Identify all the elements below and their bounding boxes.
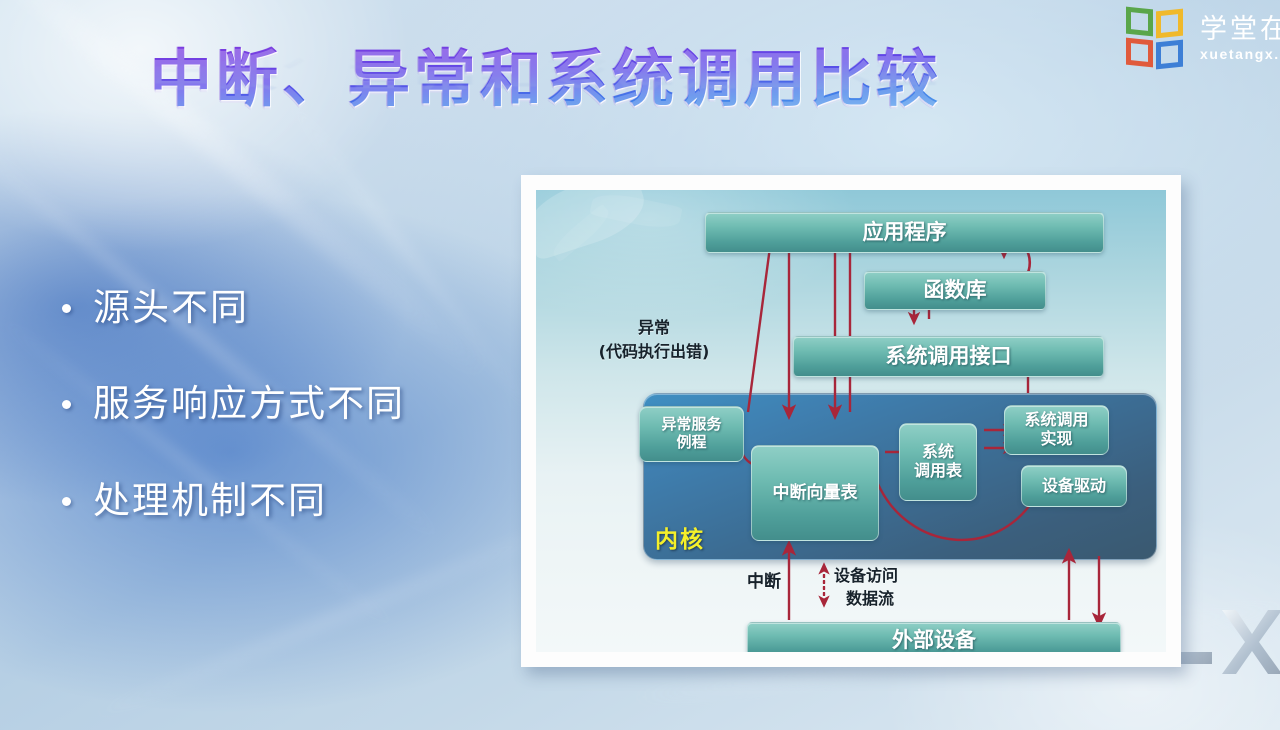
xuetangx-logo-icon — [1126, 8, 1188, 70]
diagram-box-function-library: 函数库 — [864, 271, 1046, 310]
bullet-dot-icon — [62, 400, 71, 409]
diagram-image-frame: 内核 — [521, 175, 1181, 667]
diagram-box-exception-service-routine: 异常服务 例程 — [639, 406, 744, 462]
label-exception-sub: (代码执行出错) — [564, 342, 744, 362]
list-item: 服务响应方式不同 — [62, 382, 532, 426]
brand-logo[interactable]: 学堂在线 xuetangx.com — [1126, 8, 1280, 70]
bullet-label: 源头不同 — [93, 286, 249, 330]
logo-name-en: xuetangx.com — [1200, 47, 1280, 62]
list-item: 源头不同 — [62, 286, 532, 330]
bullet-list: 源头不同 服务响应方式不同 处理机制不同 — [62, 286, 532, 523]
diagram-box-syscall-table: 系统 调用表 — [899, 423, 977, 501]
slide-title-block: 中断、异常和系统调用比较 中断、异常和系统调用比较 — [150, 28, 1100, 143]
label-device-access-flow-line1: 设备访问 — [834, 566, 954, 586]
diagram-box-syscall-implementation: 系统调用 实现 — [1004, 405, 1109, 455]
bullet-label: 处理机制不同 — [93, 479, 327, 523]
list-item: 处理机制不同 — [62, 479, 532, 523]
logo-square-green — [1126, 7, 1153, 37]
logo-name-cn: 学堂在线 — [1200, 16, 1280, 44]
logo-text-block: 学堂在线 xuetangx.com — [1200, 16, 1280, 61]
label-interrupt: 中断 — [729, 572, 799, 593]
decorative-leaf — [536, 190, 652, 261]
logo-square-red — [1126, 38, 1153, 68]
diagram-box-device-driver: 设备驱动 — [1021, 465, 1127, 507]
bullet-dot-icon — [62, 304, 71, 313]
diagram-box-external-device: 外部设备 — [747, 622, 1121, 652]
architecture-diagram: 内核 — [536, 190, 1166, 652]
logo-square-yellow — [1156, 9, 1183, 39]
decorative-watermark — [1166, 590, 1280, 690]
decorative-leaf — [548, 204, 613, 263]
kernel-label: 内核 — [655, 520, 705, 554]
decorative-leaf — [589, 190, 682, 233]
bullet-label: 服务响应方式不同 — [93, 382, 405, 426]
label-device-access-flow-line2: 数据流 — [846, 589, 966, 609]
logo-square-blue — [1156, 40, 1183, 70]
bullet-dot-icon — [62, 497, 71, 506]
slide-canvas: 中断、异常和系统调用比较 中断、异常和系统调用比较 学堂在线 xuetangx.… — [0, 0, 1280, 730]
diagram-box-application: 应用程序 — [705, 212, 1104, 253]
diagram-box-interrupt-vector-table: 中断向量表 — [751, 445, 879, 541]
diagram-box-syscall-interface: 系统调用接口 — [793, 336, 1104, 377]
page-title-reflection: 中断、异常和系统调用比较 — [150, 51, 942, 101]
label-exception: 异常 — [584, 318, 724, 338]
